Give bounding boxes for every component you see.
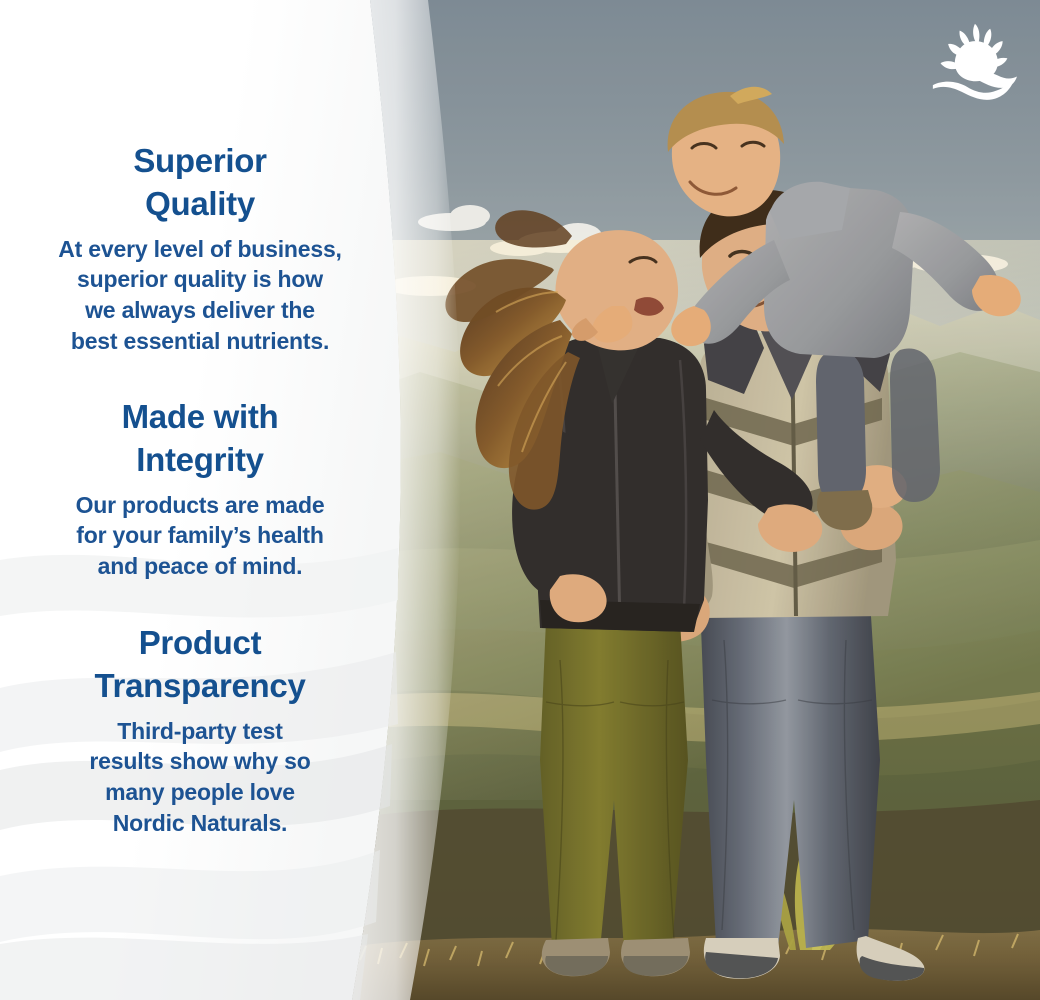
banner-root: Superior Quality At every level of busin… xyxy=(0,0,1040,1000)
value-title-made-with-integrity: Made with Integrity xyxy=(26,396,374,482)
values-text-column: Superior Quality At every level of busin… xyxy=(0,0,398,1000)
value-block-product-transparency: Product Transparency Third-party test re… xyxy=(26,622,374,838)
value-block-made-with-integrity: Made with Integrity Our products are mad… xyxy=(26,396,374,582)
value-block-superior-quality: Superior Quality At every level of busin… xyxy=(26,140,374,356)
value-body-superior-quality: At every level of business, superior qua… xyxy=(26,234,374,356)
nordic-naturals-sun-wave-logo xyxy=(924,22,1022,108)
value-title-superior-quality: Superior Quality xyxy=(26,140,374,226)
value-body-made-with-integrity: Our products are made for your family’s … xyxy=(26,490,374,582)
value-body-product-transparency: Third-party test results show why so man… xyxy=(26,716,374,838)
value-title-product-transparency: Product Transparency xyxy=(26,622,374,708)
